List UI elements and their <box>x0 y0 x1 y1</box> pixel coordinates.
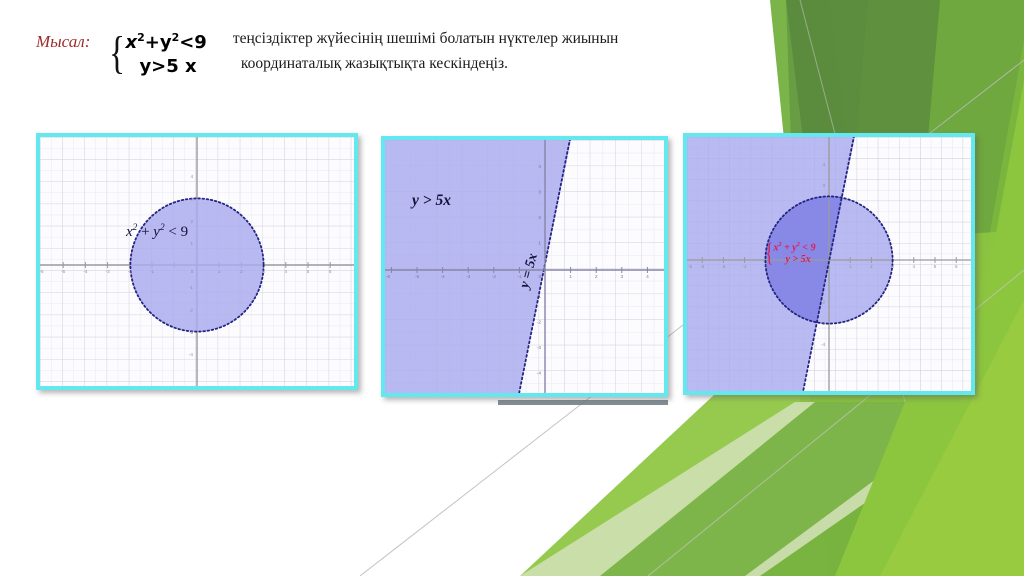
svg-text:-3: -3 <box>821 321 825 326</box>
svg-text:-3: -3 <box>189 330 194 335</box>
panel-circle-plot: -6-5-4 -3-2-1 0 123 456 432 1 -1-2-3 -4 <box>40 137 354 386</box>
svg-text:0: 0 <box>191 269 194 274</box>
system-line-1-x: x <box>125 32 137 53</box>
system-line-1: x2+y2<9 <box>125 26 206 55</box>
svg-text:-2: -2 <box>785 264 789 269</box>
svg-text:-4: -4 <box>440 274 445 280</box>
svg-text:3: 3 <box>620 274 623 280</box>
svg-text:1: 1 <box>538 241 541 247</box>
svg-text:-1: -1 <box>821 278 825 283</box>
svg-text:3: 3 <box>262 269 265 274</box>
system-line-1-sup-1: 2 <box>137 31 145 44</box>
prose-line-1: теңсіздіктер жүйесінің шешімі болатын нү… <box>233 30 619 47</box>
system-line-1-rel: <9 <box>179 32 207 53</box>
svg-text:4: 4 <box>190 174 193 179</box>
svg-text:2: 2 <box>240 269 243 274</box>
svg-text:-1: -1 <box>189 285 194 290</box>
svg-text:0: 0 <box>539 274 542 280</box>
intersection-graph-svg: -6-5-5 -4-3-2 -1 0 123 456 432 1 -1-2-3 … <box>687 137 971 391</box>
svg-text:-3: -3 <box>764 264 768 269</box>
svg-text:4: 4 <box>538 164 541 170</box>
svg-text:-4: -4 <box>537 371 542 377</box>
svg-text:-6: -6 <box>688 264 692 269</box>
svg-text:-6: -6 <box>386 274 391 280</box>
svg-text:3: 3 <box>190 197 193 202</box>
svg-text:-5: -5 <box>415 274 420 280</box>
line-graph-svg: -6-5-4 -3-2-1 0 123 4 432 1 -1-2-3 -4 <box>385 140 664 393</box>
svg-text:-1: -1 <box>150 269 155 274</box>
example-label: Мысал: <box>36 26 90 52</box>
system-line-1-mid: +y <box>145 32 172 53</box>
heading-block: Мысал: { x2+y2<9 y>5 x теңсіздіктер жүйе… <box>36 26 776 79</box>
heading-system: { x2+y2<9 y>5 x <box>106 26 206 79</box>
svg-text:-2: -2 <box>128 269 133 274</box>
svg-text:2: 2 <box>595 274 598 280</box>
svg-text:-6: -6 <box>40 269 44 274</box>
svg-text:-4: -4 <box>83 269 88 274</box>
system-brace: { <box>109 31 125 75</box>
svg-text:-1: -1 <box>806 264 810 269</box>
svg-text:-2: -2 <box>189 308 194 313</box>
svg-text:6: 6 <box>329 269 332 274</box>
svg-text:-5: -5 <box>61 269 66 274</box>
svg-text:1: 1 <box>218 269 221 274</box>
svg-text:-1: -1 <box>517 274 522 280</box>
svg-text:5: 5 <box>307 269 310 274</box>
svg-text:4: 4 <box>646 274 649 280</box>
circle-graph-svg: -6-5-4 -3-2-1 0 123 456 432 1 -1-2-3 -4 <box>40 137 354 386</box>
slide-canvas: Мысал: { x2+y2<9 y>5 x теңсіздіктер жүйе… <box>0 0 1024 576</box>
svg-text:-3: -3 <box>106 269 111 274</box>
panel-system-solution: -6-5-5 -4-3-2 -1 0 123 456 432 1 -1-2-3 … <box>683 133 975 395</box>
svg-text:2: 2 <box>538 215 541 221</box>
svg-text:4: 4 <box>285 269 288 274</box>
system-line-2: y>5 x <box>125 55 206 79</box>
svg-text:2: 2 <box>190 219 193 224</box>
svg-text:-2: -2 <box>821 300 825 305</box>
svg-text:-2: -2 <box>537 320 542 326</box>
svg-text:-3: -3 <box>466 274 471 280</box>
svg-text:-1: -1 <box>537 294 542 300</box>
svg-text:-5: -5 <box>721 264 725 269</box>
svg-text:-2: -2 <box>492 274 497 280</box>
svg-text:-4: -4 <box>821 342 825 347</box>
svg-text:1: 1 <box>190 241 193 246</box>
panel-circle-inequality: -6-5-4 -3-2-1 0 123 456 432 1 -1-2-3 -4 … <box>36 133 358 390</box>
svg-text:-4: -4 <box>743 264 747 269</box>
panel-intersection-plot: -6-5-5 -4-3-2 -1 0 123 456 432 1 -1-2-3 … <box>687 137 971 391</box>
svg-text:-4: -4 <box>189 352 194 357</box>
panel-linear-inequality: -6-5-4 -3-2-1 0 123 4 432 1 -1-2-3 -4 y … <box>381 136 668 397</box>
svg-text:-5: -5 <box>700 264 704 269</box>
svg-text:3: 3 <box>538 190 541 196</box>
panel-line-plot: -6-5-4 -3-2-1 0 123 4 432 1 -1-2-3 -4 <box>385 140 664 393</box>
prose-line-2: координаталық жазықтықта кескіндеңіз. <box>233 51 619 76</box>
heading-prose: теңсіздіктер жүйесінің шешімі болатын нү… <box>233 26 619 76</box>
svg-text:1: 1 <box>569 274 572 280</box>
svg-text:-3: -3 <box>537 345 542 351</box>
